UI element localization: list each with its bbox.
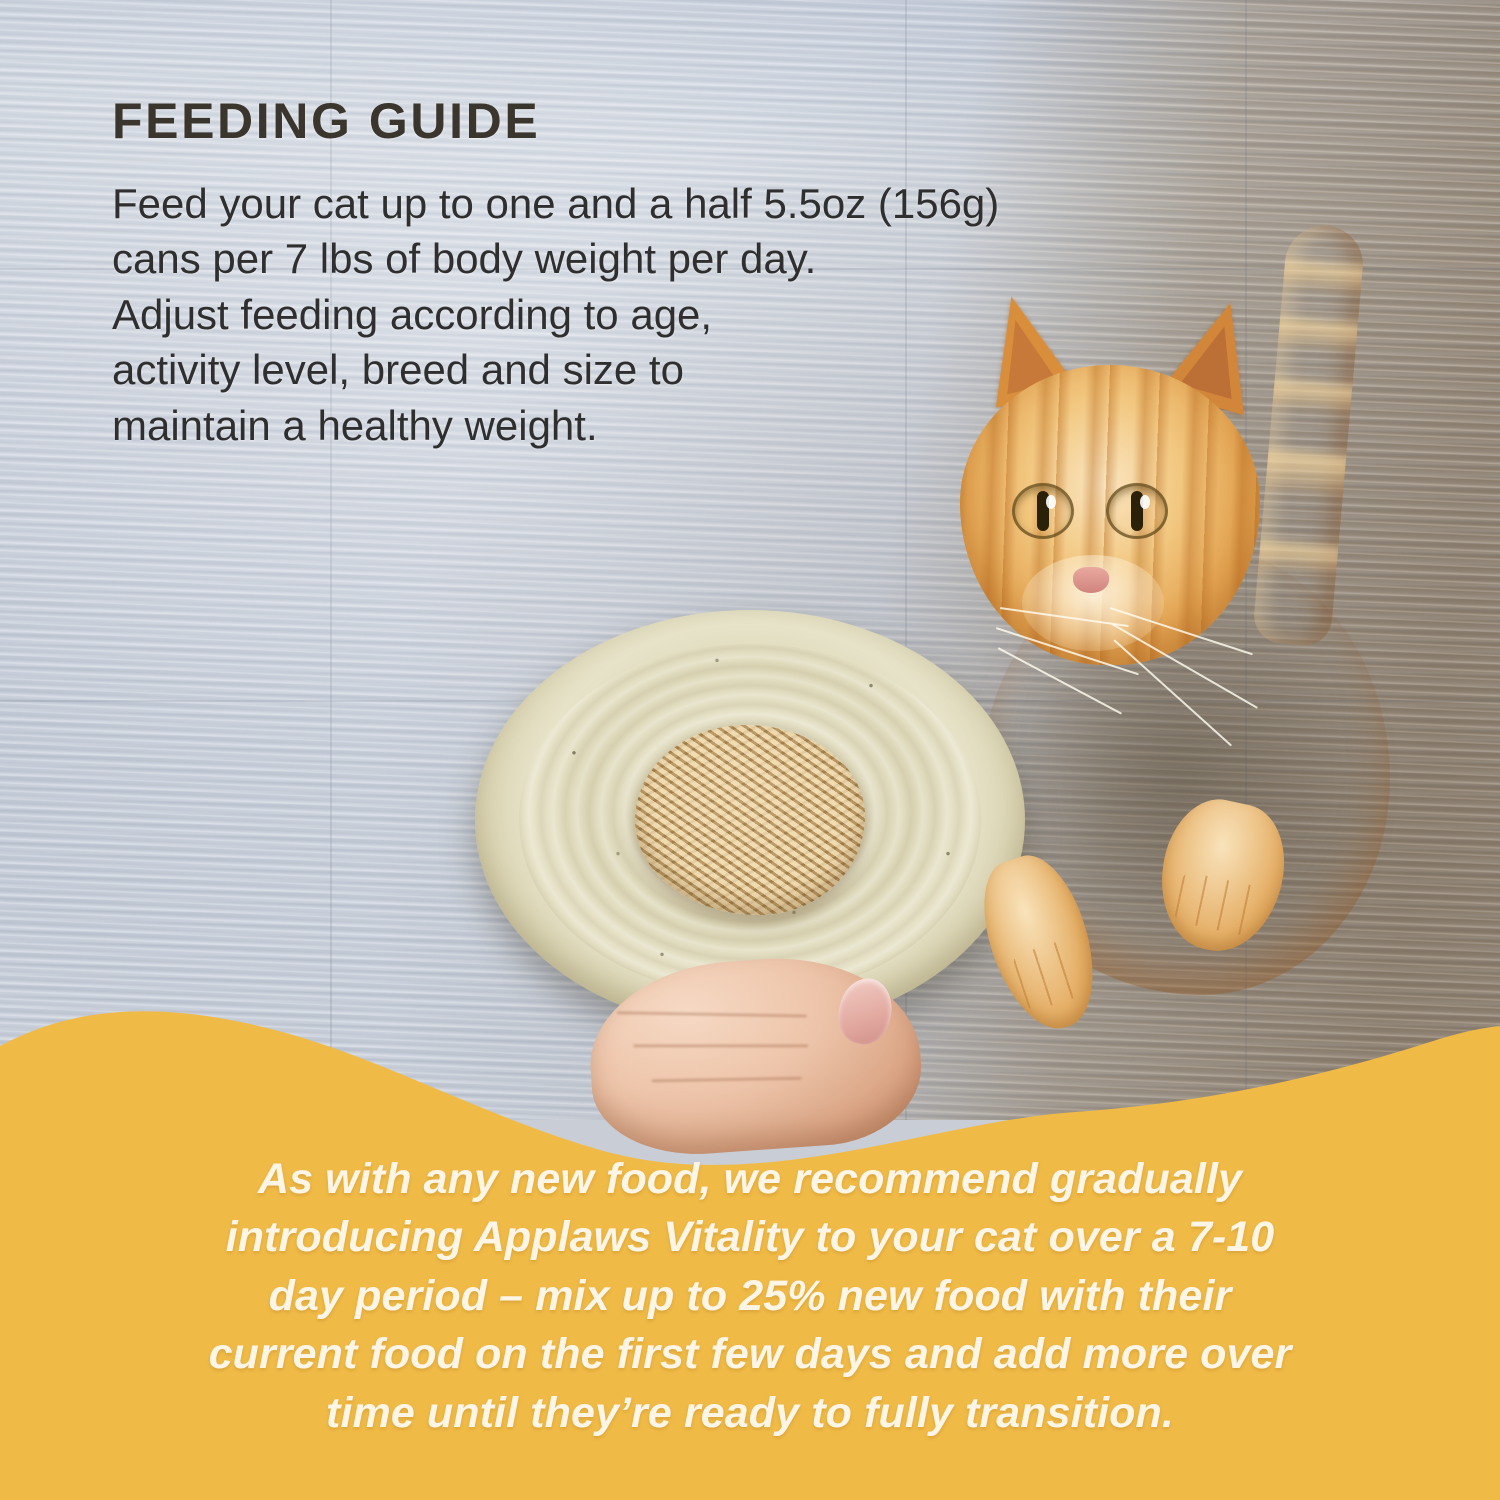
feeding-instructions-line: Adjust feeding according to age, [112,287,1292,342]
banner-line: current food on the first few days and a… [70,1325,1430,1383]
banner-line: day period – mix up to 25% new food with… [70,1267,1430,1325]
cat-eye-right [1106,483,1168,539]
feeding-instructions-line: Feed your cat up to one and a half 5.5oz… [112,176,1292,231]
transition-advice-text: As with any new food, we recommend gradu… [0,1150,1500,1442]
banner-line: time until they’re ready to fully transi… [70,1384,1430,1442]
feeding-instructions-line: activity level, breed and size to [112,342,1292,397]
feeding-instructions-text: Feed your cat up to one and a half 5.5oz… [112,176,1292,453]
transition-advice-banner: As with any new food, we recommend gradu… [0,1000,1500,1500]
feeding-guide-copy: FEEDING GUIDE Feed your cat up to one an… [112,96,1312,453]
banner-line: As with any new food, we recommend gradu… [70,1150,1430,1208]
banner-line: introducing Applaws Vitality to your cat… [70,1208,1430,1266]
feeding-instructions-line: maintain a healthy weight. [112,398,1292,453]
feeding-instructions-line: cans per 7 lbs of body weight per day. [112,231,1292,286]
page-title: FEEDING GUIDE [112,96,1312,146]
cat-nose [1073,567,1109,593]
feeding-guide-panel: FEEDING GUIDE Feed your cat up to one an… [0,0,1500,1500]
cat-eye-left [1012,483,1074,539]
